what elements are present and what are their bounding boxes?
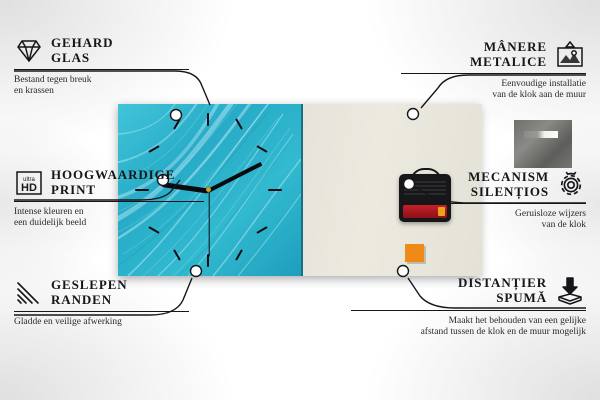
feature-description: Maakt het behouden van een gelijke afsta… — [351, 316, 586, 339]
feature-description: Intense kleuren en een duidelijk beeld — [14, 207, 204, 230]
feature-manere-metalice: MÂNERE METALICE Eenvoudige installatie v… — [401, 40, 586, 102]
feature-title-line2: METALICE — [470, 55, 547, 70]
feature-divider — [401, 73, 586, 74]
feature-desc-line2: en krassen — [14, 86, 189, 97]
feature-desc-line1: Maakt het behouden van een gelijke — [351, 316, 586, 327]
feature-title: GESLEPEN RANDEN — [51, 278, 128, 307]
feature-title-line1: GESLEPEN — [51, 278, 128, 293]
hour-marker — [207, 113, 209, 126]
hanger-slot — [524, 131, 558, 138]
feature-title-line1: GEHARD — [51, 36, 113, 51]
metal-hanger-plate — [514, 120, 572, 168]
feature-desc-line1: Intense kleuren en — [14, 207, 204, 218]
feature-mecanism-silentios: MECANISM SILENȚIOS Geruisloze wijzers va… — [401, 170, 586, 232]
feature-title-line2: GLAS — [51, 51, 113, 66]
feature-description: Gladde en veilige afwerking — [14, 317, 189, 328]
feature-title-line2: RANDEN — [51, 293, 128, 308]
feature-title-line1: MÂNERE — [470, 40, 547, 55]
feature-title-line1: DISTANȚIER — [458, 276, 547, 291]
feature-title: DISTANȚIER SPUMĂ — [458, 276, 547, 305]
hour-marker — [268, 189, 282, 191]
feature-header: GESLEPEN RANDEN — [14, 278, 189, 307]
second-hand — [208, 190, 209, 256]
feature-header: MÂNERE METALICE — [401, 40, 586, 69]
feature-desc-line1: Eenvoudige installatie — [401, 79, 586, 90]
feature-description: Eenvoudige installatie van de klok aan d… — [401, 79, 586, 102]
feature-description: Bestand tegen breuk en krassen — [14, 75, 189, 98]
gear-icon — [556, 171, 586, 199]
feature-description: Geruisloze wijzers van de klok — [401, 209, 586, 232]
feature-divider — [14, 69, 189, 70]
feature-title: MECANISM SILENȚIOS — [468, 170, 549, 199]
feature-divider — [351, 310, 586, 311]
feature-divider — [14, 311, 189, 312]
ultra-hd-icon: ultra HD — [14, 170, 44, 196]
feature-title: GEHARD GLAS — [51, 36, 113, 65]
clock-hub — [206, 187, 211, 192]
feature-title-line2: SPUMĂ — [458, 291, 547, 306]
foam-spacer — [405, 244, 424, 262]
feature-distantier-spuma: DISTANȚIER SPUMĂ Maakt het behouden van … — [351, 276, 586, 339]
framed-picture-icon — [554, 41, 586, 69]
feature-desc-line1: Bestand tegen breuk — [14, 75, 189, 86]
ultra-hd-icon-bottom-label: HD — [21, 182, 37, 194]
feature-title-line1: MECANISM — [468, 170, 549, 185]
feature-hoogwaardige-print: ultra HD HOOGWAARDIGE PRINT Intense kleu… — [14, 168, 204, 230]
diamond-icon — [14, 38, 44, 64]
feature-header: DISTANȚIER SPUMĂ — [351, 276, 586, 306]
feature-desc-line1: Geruisloze wijzers — [401, 209, 586, 220]
feature-desc-line2: een duidelijk beeld — [14, 218, 204, 229]
ground-edges-icon — [14, 280, 44, 306]
feature-desc-line1: Gladde en veilige afwerking — [14, 317, 189, 328]
feature-desc-line2: van de klok — [401, 220, 586, 231]
feature-gehard-glas: GEHARD GLAS Bestand tegen breuk en krass… — [14, 36, 189, 98]
feature-title: HOOGWAARDIGE PRINT — [51, 168, 175, 197]
feature-divider — [14, 201, 204, 202]
feature-title-line2: PRINT — [51, 183, 175, 198]
feature-desc-line2: van de klok aan de muur — [401, 90, 586, 101]
feature-desc-line2: afstand tussen de klok en de muur mogeli… — [351, 327, 586, 338]
feature-geslepen-randen: GESLEPEN RANDEN Gladde en veilige afwerk… — [14, 278, 189, 328]
feature-header: MECANISM SILENȚIOS — [401, 170, 586, 199]
feature-title-line2: SILENȚIOS — [468, 185, 549, 200]
spacer-press-icon — [554, 276, 586, 306]
feature-header: GEHARD GLAS — [14, 36, 189, 65]
feature-title: MÂNERE METALICE — [470, 40, 547, 69]
infographic-canvas: GEHARD GLAS Bestand tegen breuk en krass… — [0, 0, 600, 400]
feature-header: ultra HD HOOGWAARDIGE PRINT — [14, 168, 204, 197]
feature-title-line1: HOOGWAARDIGE — [51, 168, 175, 183]
feature-divider — [401, 203, 586, 204]
